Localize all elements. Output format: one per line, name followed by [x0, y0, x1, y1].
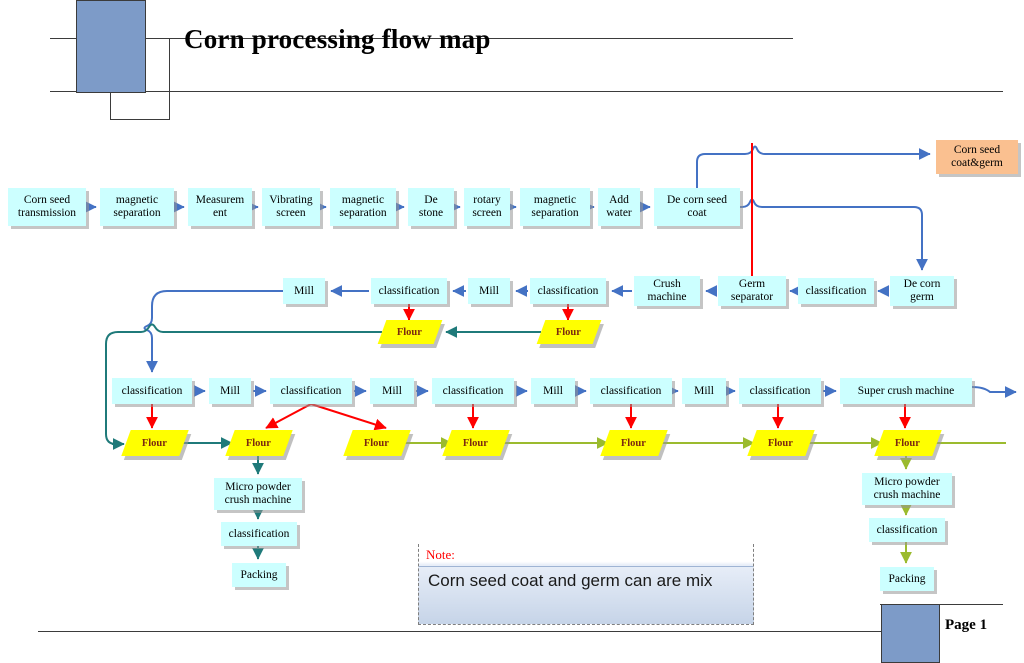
footer-rule-lower	[38, 631, 890, 632]
process-node-classification-r3-2[interactable]: classification	[270, 378, 352, 404]
process-node-de-corn-germ[interactable]: De corngerm	[890, 276, 954, 306]
process-node-classification-left-tail[interactable]: classification	[221, 522, 297, 546]
process-node-super-crush-machine[interactable]: Super crush machine	[840, 378, 972, 404]
flour-node-flour-r3-1[interactable]: Flour	[121, 430, 188, 456]
process-node-measurement[interactable]: Measurement	[188, 188, 252, 226]
node-label: Packing	[240, 569, 277, 582]
node-label: Crushmachine	[648, 278, 687, 304]
flour-label: Flour	[621, 438, 646, 449]
node-label: Corn seedcoat&germ	[951, 144, 1003, 170]
process-node-mill-r3-3[interactable]: Mill	[531, 378, 575, 404]
node-label: classification	[379, 285, 440, 298]
process-node-classification-r3-5[interactable]: classification	[739, 378, 821, 404]
process-node-mill-r2-1[interactable]: Mill	[283, 278, 325, 304]
node-label: De corn seedcoat	[667, 194, 727, 220]
flour-label: Flour	[142, 438, 167, 449]
flour-node-flour-r2-2[interactable]: Flour	[537, 320, 602, 344]
process-node-magnetic-separation-2[interactable]: magneticseparation	[330, 188, 396, 226]
node-label: Addwater	[606, 194, 632, 220]
node-label: Mill	[479, 285, 499, 298]
process-node-classification-r2-3[interactable]: classification	[798, 278, 874, 304]
flour-node-flour-r3-6[interactable]: Flour	[747, 430, 814, 456]
process-node-mill-r2-2[interactable]: Mill	[468, 278, 510, 304]
node-label: Micro powdercrush machine	[225, 481, 292, 507]
node-label: classification	[443, 385, 504, 398]
process-node-packing-left[interactable]: Packing	[232, 563, 286, 587]
node-label: Germseparator	[731, 278, 773, 304]
node-label: classification	[122, 385, 183, 398]
node-label: Corn seedtransmission	[18, 194, 76, 220]
flour-node-flour-r3-2[interactable]: Flour	[225, 430, 292, 456]
node-label: magneticseparation	[113, 194, 160, 220]
flour-node-flour-r3-4[interactable]: Flour	[442, 430, 509, 456]
process-node-vibrating-screen[interactable]: Vibratingscreen	[262, 188, 320, 226]
node-label: Mill	[294, 285, 314, 298]
flour-label: Flour	[463, 438, 488, 449]
node-label: De corngerm	[904, 278, 941, 304]
process-node-germ-separator[interactable]: Germseparator	[718, 276, 786, 306]
process-node-corn-seed-transmission[interactable]: Corn seedtransmission	[8, 188, 86, 226]
process-node-mill-r3-2[interactable]: Mill	[370, 378, 414, 404]
process-node-magnetic-separation-1[interactable]: magneticseparation	[100, 188, 174, 226]
node-label: classification	[877, 524, 938, 537]
header-rule-bottom	[50, 91, 1003, 92]
node-label: Measurement	[196, 194, 245, 220]
node-label: magneticseparation	[531, 194, 578, 220]
node-label: Mill	[694, 385, 714, 398]
process-node-crush-machine[interactable]: Crushmachine	[634, 276, 700, 306]
process-node-micro-powder-crush-right[interactable]: Micro powdercrush machine	[862, 473, 952, 505]
node-label: rotaryscreen	[472, 194, 501, 220]
flour-node-flour-r2-1[interactable]: Flour	[378, 320, 443, 344]
node-label: classification	[229, 528, 290, 541]
node-label: classification	[750, 385, 811, 398]
flour-label: Flour	[768, 438, 793, 449]
note-label: Note:	[426, 547, 455, 563]
flour-label: Flour	[397, 327, 422, 338]
page-title: Corn processing flow map	[184, 24, 491, 55]
process-node-rotary-screen[interactable]: rotaryscreen	[464, 188, 510, 226]
node-label: classification	[806, 285, 867, 298]
flour-node-flour-r3-7[interactable]: Flour	[874, 430, 941, 456]
node-label: Packing	[888, 573, 925, 586]
process-node-classification-r3-1[interactable]: classification	[112, 378, 192, 404]
node-label: Vibratingscreen	[269, 194, 312, 220]
process-node-classification-r3-3[interactable]: classification	[432, 378, 514, 404]
process-node-classification-right-tail[interactable]: classification	[869, 518, 945, 542]
node-label: Mill	[382, 385, 402, 398]
node-label: Micro powdercrush machine	[874, 476, 941, 502]
node-label: Mill	[543, 385, 563, 398]
process-node-classification-r2-1[interactable]: classification	[371, 278, 447, 304]
process-node-magnetic-separation-3[interactable]: magneticseparation	[520, 188, 590, 226]
note-divider	[419, 566, 753, 567]
process-node-classification-r2-2[interactable]: classification	[530, 278, 606, 304]
page-number: Page 1	[945, 617, 987, 634]
flour-label: Flour	[246, 438, 271, 449]
note-text: Corn seed coat and germ can are mix	[428, 571, 748, 591]
node-label: Destone	[419, 194, 443, 220]
process-node-classification-r3-4[interactable]: classification	[590, 378, 672, 404]
process-node-micro-powder-crush-left[interactable]: Micro powdercrush machine	[214, 478, 302, 510]
process-node-de-stone[interactable]: Destone	[408, 188, 454, 226]
output-node-corn-seed-coat-germ[interactable]: Corn seedcoat&germ	[936, 140, 1018, 174]
flour-node-flour-r3-3[interactable]: Flour	[343, 430, 410, 456]
process-node-mill-r3-4[interactable]: Mill	[682, 378, 726, 404]
header-square-filled	[76, 0, 146, 93]
node-label: classification	[538, 285, 599, 298]
node-label: Mill	[220, 385, 240, 398]
process-node-packing-right[interactable]: Packing	[880, 567, 934, 591]
node-label: classification	[281, 385, 342, 398]
process-node-de-corn-seed-coat[interactable]: De corn seedcoat	[654, 188, 740, 226]
slide-canvas: Corn processing flow map	[0, 0, 1024, 661]
process-node-add-water[interactable]: Addwater	[598, 188, 640, 226]
node-label: Super crush machine	[858, 385, 954, 398]
flour-label: Flour	[895, 438, 920, 449]
footer-square-filled	[881, 604, 940, 663]
process-node-mill-r3-1[interactable]: Mill	[209, 378, 251, 404]
node-label: classification	[601, 385, 662, 398]
flour-label: Flour	[364, 438, 389, 449]
flour-label: Flour	[556, 327, 581, 338]
node-label: magneticseparation	[339, 194, 386, 220]
flour-node-flour-r3-5[interactable]: Flour	[600, 430, 667, 456]
